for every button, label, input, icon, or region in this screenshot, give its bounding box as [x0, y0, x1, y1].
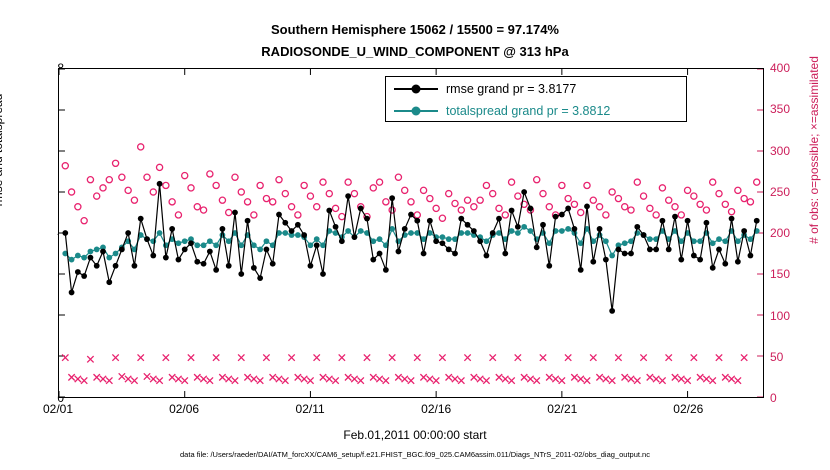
obs-possible-marker	[175, 212, 181, 218]
obs-possible-marker	[502, 212, 508, 218]
obs-assimilated-marker	[515, 354, 521, 360]
data-point	[465, 230, 471, 236]
data-point	[69, 257, 75, 263]
data-point	[132, 263, 138, 269]
data-point	[515, 224, 521, 230]
data-point	[295, 232, 301, 238]
data-point	[364, 216, 370, 222]
obs-assimilated-marker	[219, 374, 225, 380]
obs-possible-marker	[219, 197, 225, 203]
y-tick-right-100: 100	[770, 309, 814, 323]
obs-possible-marker	[345, 179, 351, 185]
data-point	[182, 238, 188, 244]
obs-assimilated-marker	[427, 376, 433, 382]
obs-possible-marker	[420, 187, 426, 193]
obs-assimilated-marker	[138, 354, 144, 360]
data-point	[251, 242, 257, 248]
data-point	[546, 263, 552, 269]
obs-possible-marker	[515, 193, 521, 199]
data-point	[697, 257, 703, 263]
data-point	[257, 247, 263, 253]
obs-possible-marker	[314, 204, 320, 210]
legend-entry-rmse: rmse grand pr = 3.8177	[386, 77, 688, 100]
obs-assimilated-marker	[716, 354, 722, 360]
obs-possible-marker	[326, 191, 332, 197]
data-point	[433, 238, 439, 244]
obs-possible-marker	[62, 163, 68, 169]
obs-assimilated-marker	[408, 377, 414, 383]
data-point	[194, 242, 200, 248]
data-point	[358, 228, 364, 234]
x-tick-0226: 02/26	[673, 402, 703, 416]
data-point	[270, 261, 276, 267]
data-point	[345, 193, 351, 199]
y-tick-right-250: 250	[770, 185, 814, 199]
data-point	[163, 255, 169, 261]
data-point	[157, 230, 163, 236]
obs-possible-marker	[100, 185, 106, 191]
obs-assimilated-marker	[332, 377, 338, 383]
obs-possible-marker	[244, 199, 250, 205]
obs-assimilated-marker	[647, 374, 653, 380]
data-point	[257, 275, 263, 281]
obs-possible-marker	[634, 179, 640, 185]
obs-assimilated-marker	[471, 374, 477, 380]
obs-possible-marker	[464, 197, 470, 203]
data-point	[609, 308, 615, 314]
obs-assimilated-marker	[144, 373, 150, 379]
obs-assimilated-marker	[194, 374, 200, 380]
obs-possible-marker	[238, 189, 244, 195]
data-point	[383, 267, 389, 273]
obs-assimilated-marker	[232, 377, 238, 383]
obs-possible-marker	[351, 191, 357, 197]
obs-assimilated-marker	[414, 354, 420, 360]
obs-assimilated-marker	[270, 374, 276, 380]
data-point	[314, 242, 320, 248]
x-axis-label: Feb.01,2011 00:00:00 start	[0, 428, 830, 442]
obs-assimilated-marker	[131, 377, 137, 383]
obs-possible-marker	[534, 177, 540, 183]
obs-assimilated-marker	[622, 374, 628, 380]
data-point	[119, 247, 125, 253]
obs-possible-marker	[370, 185, 376, 191]
data-point	[389, 195, 395, 201]
data-point	[62, 230, 68, 236]
obs-assimilated-marker	[62, 354, 68, 360]
obs-assimilated-marker	[395, 374, 401, 380]
data-point	[295, 222, 301, 228]
obs-possible-marker	[622, 204, 628, 210]
obs-possible-marker	[295, 212, 301, 218]
obs-assimilated-marker	[584, 377, 590, 383]
x-tick-0201: 02/01	[43, 402, 73, 416]
obs-assimilated-marker	[653, 376, 659, 382]
obs-possible-marker	[741, 195, 747, 201]
obs-assimilated-marker	[207, 377, 213, 383]
obs-assimilated-marker	[383, 377, 389, 383]
obs-possible-marker	[94, 193, 100, 199]
obs-possible-marker	[125, 187, 131, 193]
obs-assimilated-marker	[552, 376, 558, 382]
obs-possible-marker	[477, 197, 483, 203]
obs-assimilated-marker	[728, 376, 734, 382]
obs-possible-marker	[150, 189, 156, 195]
obs-assimilated-marker	[590, 354, 596, 360]
obs-assimilated-marker	[659, 377, 665, 383]
data-point	[603, 257, 609, 263]
legend-label-rmse: rmse grand pr = 3.8177	[446, 82, 576, 96]
data-point	[748, 253, 754, 259]
obs-assimilated-marker	[188, 354, 194, 360]
obs-possible-marker	[395, 174, 401, 180]
data-point	[207, 249, 213, 255]
data-point	[81, 273, 87, 279]
data-point	[722, 238, 728, 244]
obs-assimilated-marker	[389, 354, 395, 360]
obs-assimilated-marker	[710, 377, 716, 383]
obs-assimilated-marker	[251, 376, 257, 382]
data-point	[490, 230, 496, 236]
obs-possible-marker	[263, 195, 269, 201]
data-point	[69, 290, 75, 296]
obs-assimilated-marker	[609, 377, 615, 383]
obs-assimilated-marker	[446, 374, 452, 380]
chart-page: Southern Hemisphere 15062 / 15500 = 97.1…	[0, 0, 830, 470]
obs-assimilated-marker	[540, 354, 546, 360]
obs-possible-marker	[672, 204, 678, 210]
obs-possible-marker	[213, 182, 219, 188]
data-point	[452, 251, 458, 257]
obs-possible-marker	[131, 197, 137, 203]
obs-assimilated-marker	[307, 377, 313, 383]
obs-possible-marker	[703, 207, 709, 213]
data-point	[113, 251, 119, 257]
data-point	[471, 228, 477, 234]
obs-possible-marker	[138, 144, 144, 150]
obs-possible-marker	[490, 191, 496, 197]
obs-possible-marker	[182, 173, 188, 179]
obs-possible-marker	[320, 179, 326, 185]
obs-assimilated-marker	[351, 376, 357, 382]
chart-title-line2: RADIOSONDE_U_WIND_COMPONENT @ 313 hPa	[0, 44, 830, 59]
data-point	[408, 212, 414, 218]
data-point	[616, 247, 622, 253]
data-point	[75, 253, 81, 259]
data-point	[458, 216, 464, 222]
obs-possible-marker	[666, 197, 672, 203]
data-point	[194, 259, 200, 265]
obs-possible-marker	[471, 204, 477, 210]
data-point	[264, 247, 270, 253]
obs-possible-marker	[546, 204, 552, 210]
obs-assimilated-marker	[370, 374, 376, 380]
obs-possible-marker	[565, 195, 571, 201]
obs-possible-marker	[112, 160, 118, 166]
data-point	[289, 228, 295, 234]
obs-assimilated-marker	[464, 354, 470, 360]
y-tick-right-300: 300	[770, 144, 814, 158]
y-tick-right-350: 350	[770, 102, 814, 116]
obs-assimilated-marker	[697, 374, 703, 380]
obs-assimilated-marker	[358, 377, 364, 383]
obs-assimilated-marker	[571, 374, 577, 380]
data-point	[150, 253, 156, 259]
data-point	[559, 212, 565, 218]
data-point	[308, 263, 314, 269]
obs-possible-marker	[722, 201, 728, 207]
obs-assimilated-marker	[276, 376, 282, 382]
data-point	[647, 236, 653, 242]
obs-possible-marker	[257, 182, 263, 188]
y-tick-right-150: 150	[770, 267, 814, 281]
obs-assimilated-marker	[452, 376, 458, 382]
obs-assimilated-marker	[634, 377, 640, 383]
data-point	[653, 247, 659, 253]
obs-assimilated-marker	[691, 354, 697, 360]
x-tick-0216: 02/16	[421, 402, 451, 416]
obs-assimilated-marker	[615, 354, 621, 360]
data-point	[326, 208, 332, 214]
obs-possible-marker	[540, 191, 546, 197]
data-point	[213, 267, 219, 273]
data-point	[716, 236, 722, 242]
obs-possible-marker	[307, 193, 313, 199]
data-point	[144, 236, 150, 242]
obs-possible-marker	[710, 179, 716, 185]
data-point	[232, 210, 238, 216]
data-point	[628, 251, 634, 257]
y-axis-label-left: rmse and totalspread	[0, 94, 5, 207]
data-point	[666, 247, 672, 253]
obs-assimilated-marker	[735, 377, 741, 383]
data-point	[106, 279, 112, 285]
legend-entry-totalspread: totalspread grand pr = 3.8812	[386, 99, 688, 122]
obs-assimilated-marker	[345, 374, 351, 380]
obs-assimilated-marker	[666, 354, 672, 360]
data-point	[590, 259, 596, 265]
obs-possible-marker	[106, 177, 112, 183]
obs-possible-marker	[163, 182, 169, 188]
data-point	[584, 203, 590, 209]
obs-assimilated-marker	[288, 354, 294, 360]
obs-possible-marker	[609, 189, 615, 195]
data-point	[534, 244, 540, 250]
obs-possible-marker	[156, 164, 162, 170]
data-point	[722, 261, 728, 267]
data-point	[697, 238, 703, 244]
obs-assimilated-marker	[295, 374, 301, 380]
obs-assimilated-marker	[81, 377, 87, 383]
data-point	[440, 240, 446, 246]
data-point	[320, 271, 326, 277]
obs-possible-marker	[590, 197, 596, 203]
obs-assimilated-marker	[628, 376, 634, 382]
data-point	[176, 240, 182, 246]
obs-possible-marker	[332, 205, 338, 211]
obs-assimilated-marker	[112, 354, 118, 360]
data-point	[572, 226, 578, 232]
data-point	[238, 242, 244, 248]
data-point	[157, 181, 163, 187]
obs-assimilated-marker	[640, 354, 646, 360]
obs-assimilated-marker	[502, 376, 508, 382]
data-point	[704, 220, 710, 226]
data-point	[301, 232, 307, 238]
data-point	[521, 224, 527, 230]
obs-possible-marker	[207, 171, 213, 177]
x-tick-0206: 02/06	[169, 402, 199, 416]
y-tick-right-50: 50	[770, 350, 814, 364]
obs-possible-marker	[402, 187, 408, 193]
obs-possible-marker	[678, 212, 684, 218]
data-point	[440, 234, 446, 240]
data-point	[484, 253, 490, 259]
obs-possible-marker	[559, 182, 565, 188]
data-point	[314, 236, 320, 242]
obs-assimilated-marker	[182, 377, 188, 383]
obs-assimilated-marker	[703, 376, 709, 382]
obs-assimilated-marker	[490, 354, 496, 360]
obs-assimilated-marker	[150, 376, 156, 382]
data-point	[251, 265, 257, 271]
obs-assimilated-marker	[672, 374, 678, 380]
obs-assimilated-marker	[420, 374, 426, 380]
data-point	[691, 253, 697, 259]
obs-assimilated-marker	[483, 377, 489, 383]
obs-possible-marker	[81, 218, 87, 224]
obs-assimilated-marker	[565, 354, 571, 360]
data-point	[509, 228, 515, 234]
obs-assimilated-marker	[439, 354, 445, 360]
data-file-caption: data file: /Users/raeder/DAI/ATM_forcXX/…	[0, 450, 830, 459]
obs-assimilated-marker	[301, 376, 307, 382]
obs-assimilated-marker	[75, 376, 81, 382]
data-point	[276, 212, 282, 218]
data-point	[540, 222, 546, 228]
data-point	[465, 222, 471, 228]
data-point	[377, 251, 383, 257]
obs-assimilated-marker	[175, 376, 181, 382]
data-point	[106, 255, 112, 261]
obs-assimilated-marker	[559, 377, 565, 383]
data-point	[370, 257, 376, 263]
data-point	[345, 228, 351, 234]
obs-possible-marker	[697, 201, 703, 207]
obs-possible-marker	[458, 207, 464, 213]
data-point	[176, 257, 182, 263]
data-point	[710, 265, 716, 271]
obs-possible-marker	[647, 205, 653, 211]
obs-possible-marker	[747, 199, 753, 205]
obs-possible-marker	[596, 204, 602, 210]
obs-assimilated-marker	[364, 354, 370, 360]
chart-title-line1: Southern Hemisphere 15062 / 15500 = 97.1…	[0, 22, 830, 37]
data-point	[320, 242, 326, 248]
obs-assimilated-marker	[433, 377, 439, 383]
obs-possible-marker	[301, 182, 307, 188]
data-point	[710, 240, 716, 246]
obs-possible-marker	[339, 214, 345, 220]
data-point	[188, 240, 194, 246]
data-point	[678, 257, 684, 263]
obs-assimilated-marker	[339, 354, 345, 360]
obs-possible-marker	[691, 193, 697, 199]
obs-possible-marker	[376, 179, 382, 185]
data-point	[75, 269, 81, 275]
data-point	[578, 267, 584, 273]
obs-possible-marker	[754, 179, 760, 185]
obs-possible-marker	[716, 191, 722, 197]
data-point	[226, 263, 232, 269]
data-point	[622, 251, 628, 257]
data-point	[603, 238, 609, 244]
data-point	[477, 238, 483, 244]
obs-assimilated-marker	[678, 376, 684, 382]
obs-possible-marker	[508, 179, 514, 185]
data-point	[565, 226, 571, 232]
obs-assimilated-marker	[722, 374, 728, 380]
data-point	[729, 216, 735, 222]
data-point	[754, 218, 760, 224]
obs-assimilated-marker	[169, 374, 175, 380]
data-point	[735, 238, 741, 244]
data-point	[559, 228, 565, 234]
data-point	[685, 218, 691, 224]
obs-possible-marker	[735, 187, 741, 193]
data-point	[672, 214, 678, 220]
obs-possible-marker	[200, 207, 206, 213]
data-point	[125, 230, 131, 236]
obs-assimilated-marker	[238, 354, 244, 360]
obs-assimilated-marker	[578, 376, 584, 382]
obs-possible-marker	[452, 200, 458, 206]
obs-possible-marker	[408, 199, 414, 205]
data-point	[169, 226, 175, 232]
data-point	[138, 216, 144, 222]
data-point	[207, 238, 213, 244]
data-point	[226, 238, 232, 244]
obs-assimilated-marker	[87, 356, 93, 362]
data-point	[427, 218, 433, 224]
data-point	[201, 242, 207, 248]
obs-possible-marker	[282, 191, 288, 197]
obs-assimilated-marker	[534, 377, 540, 383]
data-point	[100, 249, 106, 255]
data-point	[408, 230, 414, 236]
obs-assimilated-marker	[213, 354, 219, 360]
data-point	[213, 242, 219, 248]
obs-assimilated-marker	[477, 376, 483, 382]
data-point	[414, 218, 420, 224]
obs-assimilated-marker	[527, 376, 533, 382]
obs-assimilated-marker	[496, 374, 502, 380]
data-point	[282, 230, 288, 236]
obs-assimilated-marker	[125, 376, 131, 382]
data-point	[282, 220, 288, 226]
obs-assimilated-marker	[458, 377, 464, 383]
obs-assimilated-marker	[326, 376, 332, 382]
obs-possible-marker	[433, 205, 439, 211]
obs-possible-marker	[251, 212, 257, 218]
data-point	[352, 234, 358, 240]
obs-possible-marker	[87, 177, 93, 183]
obs-possible-marker	[188, 185, 194, 191]
data-point	[377, 236, 383, 242]
obs-possible-marker	[578, 209, 584, 215]
data-point	[647, 247, 653, 253]
data-point	[88, 249, 94, 255]
